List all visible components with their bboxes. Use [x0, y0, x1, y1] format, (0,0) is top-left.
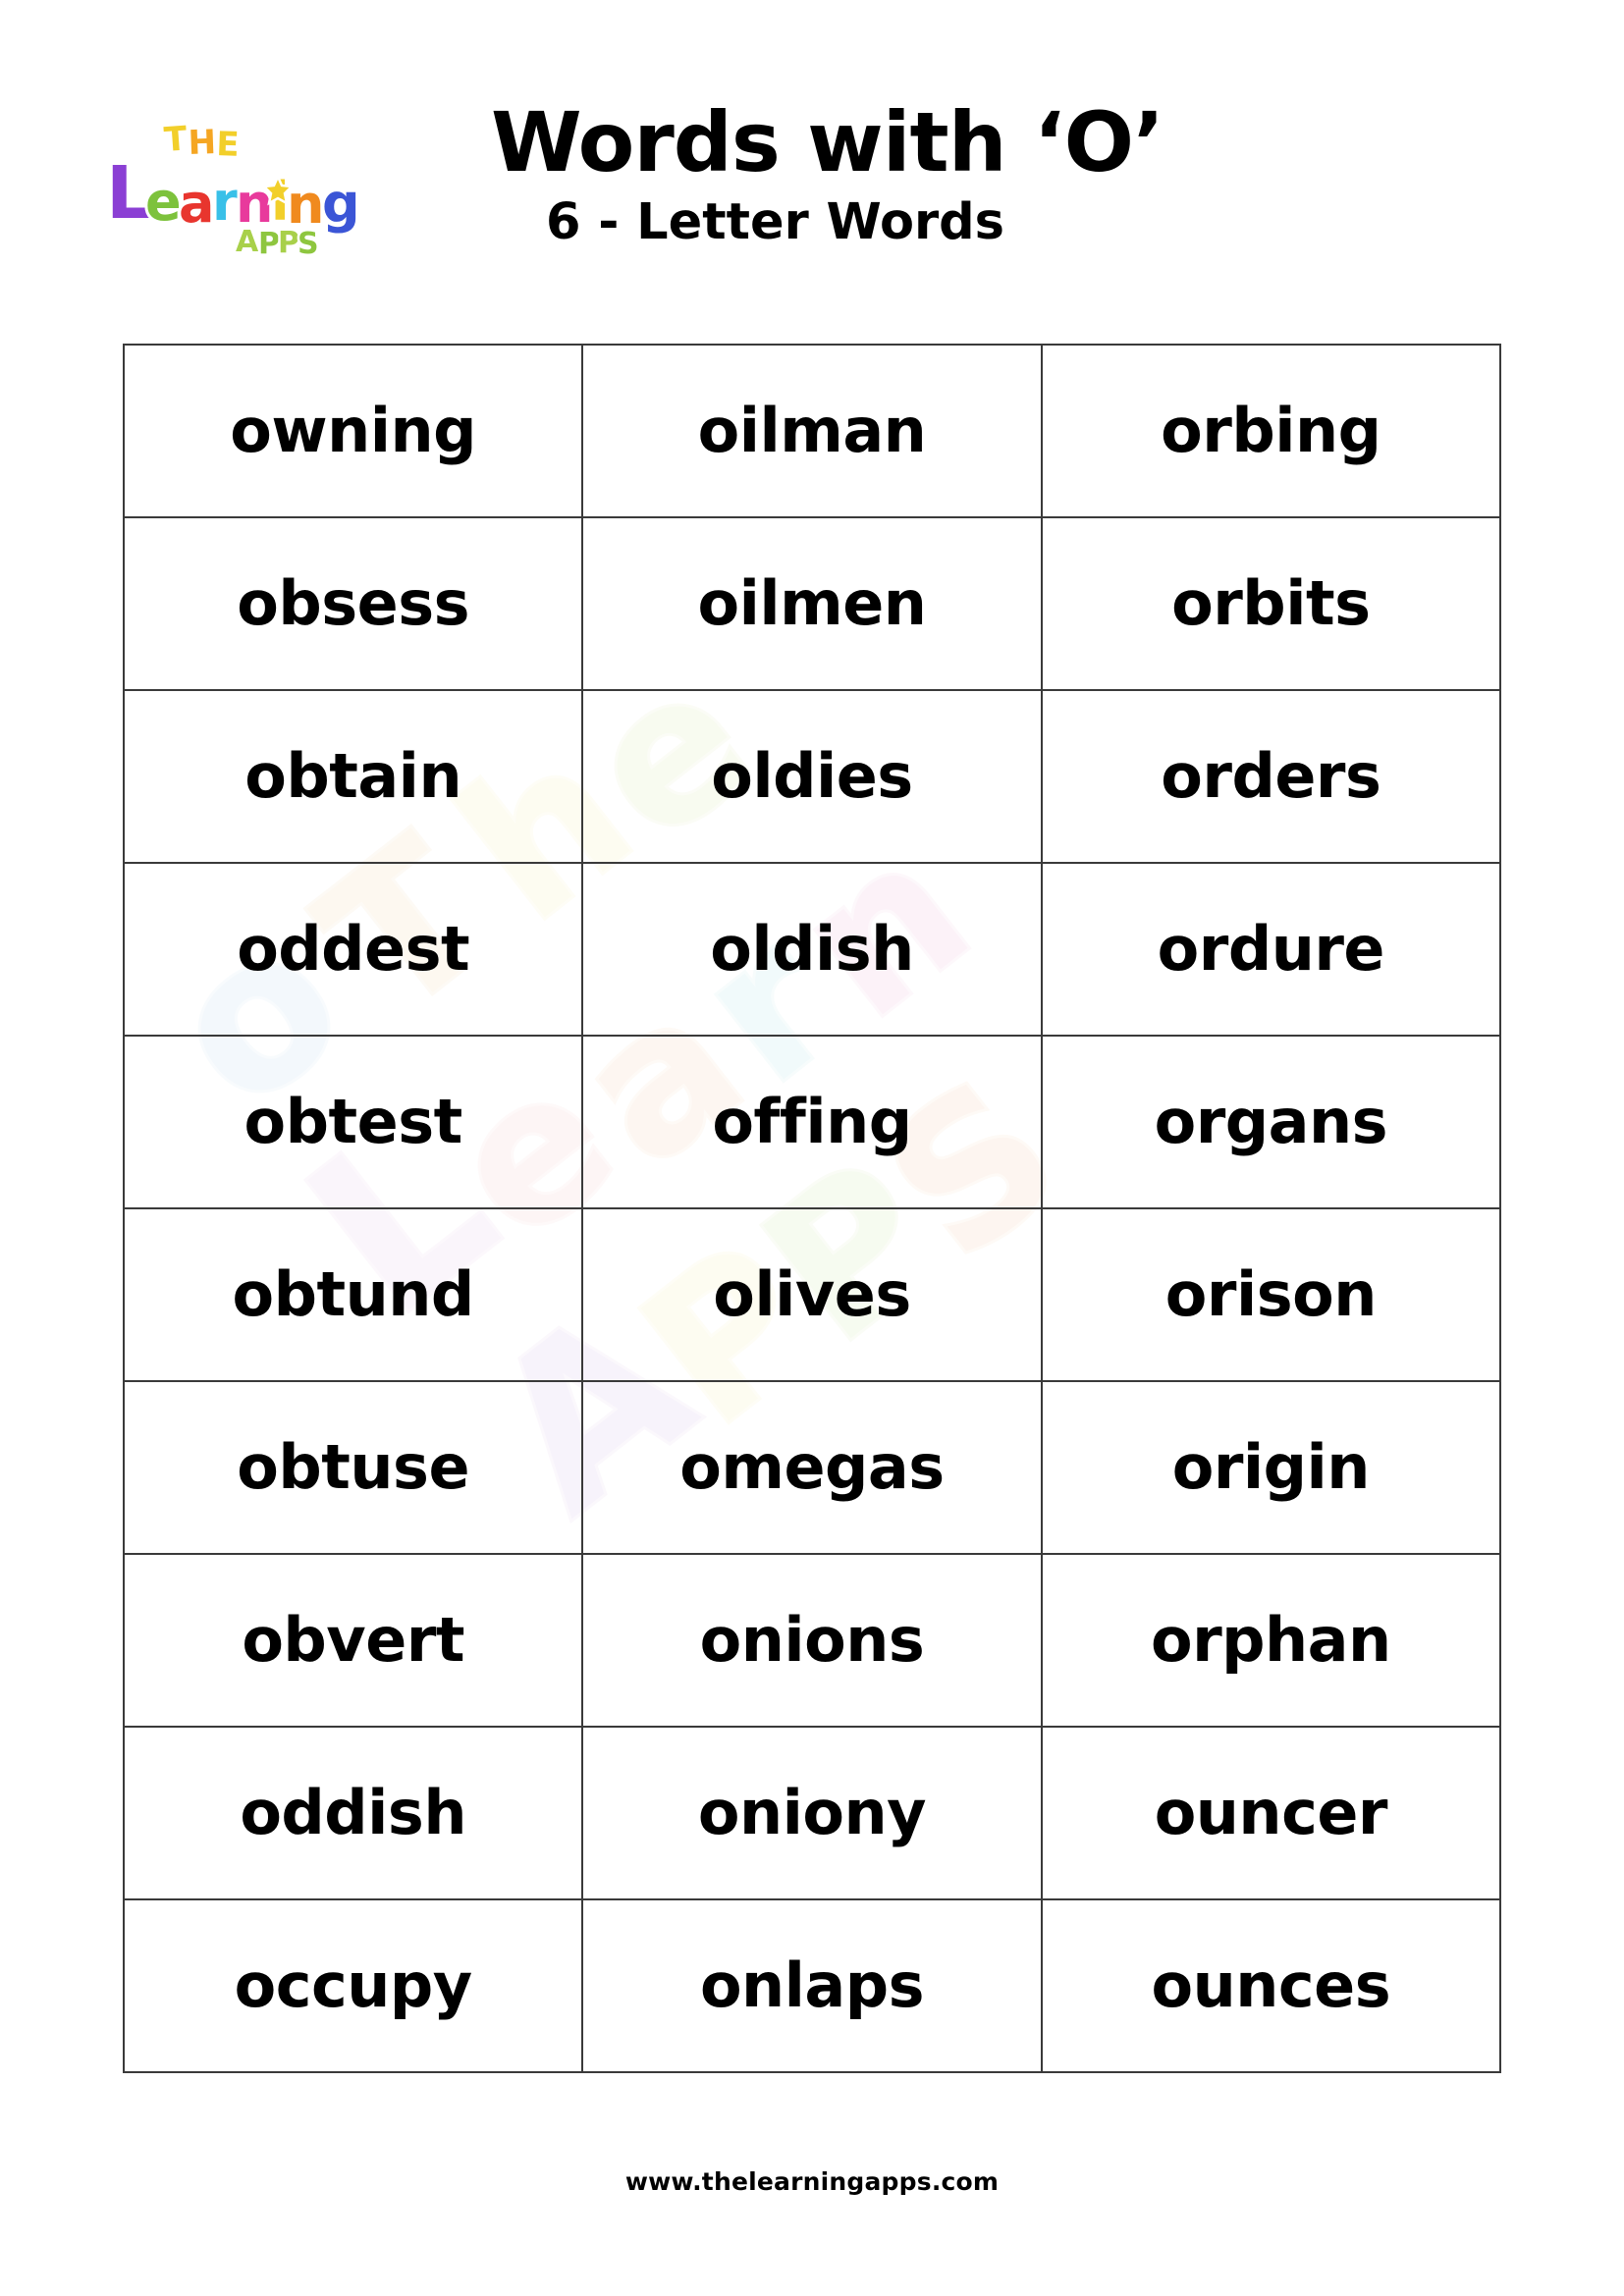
- table-row: oddest oldish ordure: [124, 863, 1500, 1036]
- svg-text:P: P: [258, 227, 280, 259]
- table-row: obtund olives orison: [124, 1208, 1500, 1381]
- table-row: obtuse omegas origin: [124, 1381, 1500, 1554]
- word-cell[interactable]: ordure: [1042, 863, 1500, 1036]
- word-cell[interactable]: orphan: [1042, 1554, 1500, 1727]
- svg-text:r: r: [212, 171, 239, 233]
- word-label: obtund: [125, 1262, 581, 1327]
- word-cell[interactable]: owning: [124, 345, 582, 517]
- word-label: orbing: [1043, 399, 1499, 463]
- table-row: obvert onions orphan: [124, 1554, 1500, 1727]
- word-label: obvert: [125, 1608, 581, 1673]
- word-label: olives: [583, 1262, 1040, 1327]
- word-cell[interactable]: ouncer: [1042, 1727, 1500, 1899]
- svg-text:g: g: [322, 173, 360, 235]
- word-cell[interactable]: obtain: [124, 690, 582, 863]
- svg-text:P: P: [278, 226, 299, 259]
- svg-text:T: T: [163, 119, 189, 160]
- word-cell[interactable]: oddest: [124, 863, 582, 1036]
- word-cell[interactable]: organs: [1042, 1036, 1500, 1208]
- word-label: oldish: [583, 917, 1040, 982]
- the-learning-apps-logo-icon: T H E L e a r n i n g: [98, 112, 432, 259]
- title-block: Words with ‘O’ 6 - Letter Words: [491, 94, 1473, 253]
- word-label: onions: [583, 1608, 1040, 1673]
- word-cell[interactable]: offing: [582, 1036, 1041, 1208]
- word-cell[interactable]: obtund: [124, 1208, 582, 1381]
- svg-text:e: e: [145, 171, 182, 233]
- word-cell[interactable]: ounces: [1042, 1899, 1500, 2072]
- word-cell[interactable]: oldish: [582, 863, 1041, 1036]
- words-table: owning oilman orbing obsess oilmen orbit…: [123, 344, 1501, 2073]
- word-label: orphan: [1043, 1608, 1499, 1673]
- word-label: occupy: [125, 1953, 581, 2018]
- svg-text:E: E: [216, 125, 241, 165]
- table-row: obtest offing organs: [124, 1036, 1500, 1208]
- word-cell[interactable]: onlaps: [582, 1899, 1041, 2072]
- word-label: orders: [1043, 744, 1499, 809]
- word-label: obtain: [125, 744, 581, 809]
- table-row: occupy onlaps ounces: [124, 1899, 1500, 2072]
- word-cell[interactable]: occupy: [124, 1899, 582, 2072]
- word-label: oldies: [583, 744, 1040, 809]
- word-cell[interactable]: obtuse: [124, 1381, 582, 1554]
- word-cell[interactable]: olives: [582, 1208, 1041, 1381]
- word-label: owning: [125, 399, 581, 463]
- word-label: oilmen: [583, 571, 1040, 636]
- page-title: Words with ‘O’: [491, 94, 1473, 190]
- word-label: ouncer: [1043, 1781, 1499, 1845]
- svg-text:H: H: [188, 123, 217, 163]
- word-label: oddest: [125, 917, 581, 982]
- word-label: oilman: [583, 399, 1040, 463]
- word-cell[interactable]: obvert: [124, 1554, 582, 1727]
- word-cell[interactable]: obsess: [124, 517, 582, 690]
- word-label: oddish: [125, 1781, 581, 1845]
- word-label: orbits: [1043, 571, 1499, 636]
- word-cell[interactable]: oniony: [582, 1727, 1041, 1899]
- word-cell[interactable]: oilman: [582, 345, 1041, 517]
- word-label: obsess: [125, 571, 581, 636]
- word-label: obtest: [125, 1090, 581, 1154]
- table-row: obtain oldies orders: [124, 690, 1500, 863]
- table-row: owning oilman orbing: [124, 345, 1500, 517]
- svg-text:a: a: [179, 173, 214, 235]
- website-url[interactable]: www.thelearningapps.com: [625, 2167, 999, 2196]
- words-table-body: owning oilman orbing obsess oilmen orbit…: [124, 345, 1500, 2072]
- word-cell[interactable]: orders: [1042, 690, 1500, 863]
- word-label: ounces: [1043, 1953, 1499, 2018]
- word-cell[interactable]: omegas: [582, 1381, 1041, 1554]
- word-cell[interactable]: oilmen: [582, 517, 1041, 690]
- word-label: organs: [1043, 1090, 1499, 1154]
- word-cell[interactable]: orbits: [1042, 517, 1500, 690]
- svg-text:S: S: [298, 227, 319, 259]
- word-label: onlaps: [583, 1953, 1040, 2018]
- word-cell[interactable]: onions: [582, 1554, 1041, 1727]
- word-label: obtuse: [125, 1435, 581, 1500]
- page-header: T H E L e a r n i n g: [0, 94, 1624, 291]
- word-cell[interactable]: orison: [1042, 1208, 1500, 1381]
- table-row: oddish oniony ouncer: [124, 1727, 1500, 1899]
- word-cell[interactable]: orbing: [1042, 345, 1500, 517]
- word-cell[interactable]: obtest: [124, 1036, 582, 1208]
- word-cell[interactable]: origin: [1042, 1381, 1500, 1554]
- word-label: origin: [1043, 1435, 1499, 1500]
- svg-text:A: A: [236, 225, 259, 259]
- word-label: omegas: [583, 1435, 1040, 1500]
- page-subtitle: 6 - Letter Words: [546, 192, 1473, 253]
- word-cell[interactable]: oddish: [124, 1727, 582, 1899]
- word-cell[interactable]: oldies: [582, 690, 1041, 863]
- page-footer: www.thelearningapps.com: [0, 2167, 1624, 2196]
- table-row: obsess oilmen orbits: [124, 517, 1500, 690]
- word-label: offing: [583, 1090, 1040, 1154]
- word-label: oniony: [583, 1781, 1040, 1845]
- word-label: orison: [1043, 1262, 1499, 1327]
- word-label: ordure: [1043, 917, 1499, 982]
- worksheet-page: T H E L e a r n i n g: [0, 0, 1624, 2296]
